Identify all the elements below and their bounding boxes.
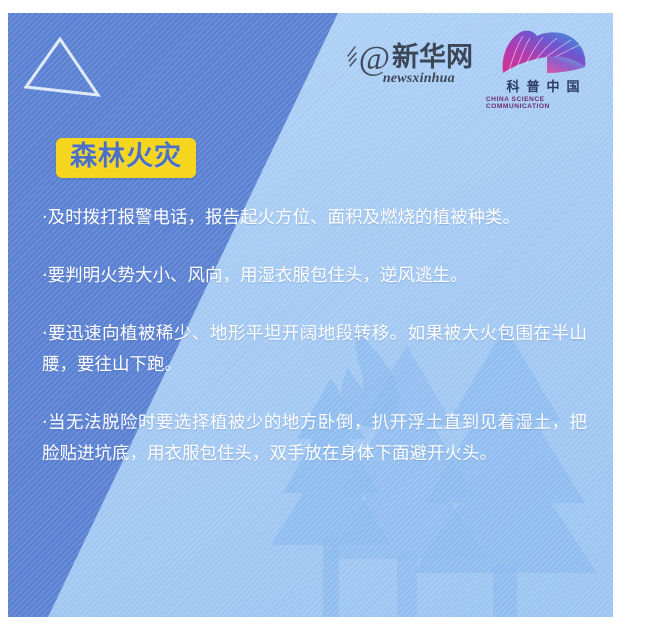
csc-chinese-name: 科普中国 xyxy=(506,81,586,95)
china-science-communication-logo: 科普中国 CHINA SCIENCE COMMUNICATION xyxy=(487,29,599,110)
tip-item: ·及时拨打报警电话，报告起火方位、面积及燃烧的植被种类。 xyxy=(42,203,587,234)
xinhua-chinese-name: 新华网 xyxy=(392,44,473,72)
tips-list: ·及时拨打报警电话，报告起火方位、面积及燃烧的植被种类。 ·要判明火势大小、风向… xyxy=(42,203,587,470)
tip-item: ·要迅速向植被稀少、地形平坦开阔地段转移。如果被大火包围在半山腰，要往山下跑。 xyxy=(42,319,587,381)
triangle-outline-icon xyxy=(22,35,102,100)
xinhua-logo-top: @ 新华网 xyxy=(347,43,473,73)
tip-item: ·当无法脱险时要选择植被少的地方卧倒，扒开浮土直到见着湿土，把脸贴进坑底，用衣服… xyxy=(42,408,587,470)
at-symbol-icon: @ xyxy=(359,44,390,74)
page-title-badge: 森林火灾 xyxy=(56,138,196,178)
xinhua-logo: @ 新华网 newsxinhua xyxy=(347,43,473,87)
csc-english-name: CHINA SCIENCE COMMUNICATION xyxy=(486,96,600,110)
poster-canvas: @ 新华网 newsxinhua xyxy=(8,13,613,617)
feather-wing-icon xyxy=(495,29,591,81)
page-title: 森林火灾 xyxy=(70,141,182,172)
logo-row: @ 新华网 newsxinhua xyxy=(347,29,599,110)
xinhua-english-name: newsxinhua xyxy=(383,71,455,87)
tip-item: ·要判明火势大小、风向，用湿衣服包住头，逆风逃生。 xyxy=(42,261,587,292)
signal-waves-icon xyxy=(347,45,357,71)
